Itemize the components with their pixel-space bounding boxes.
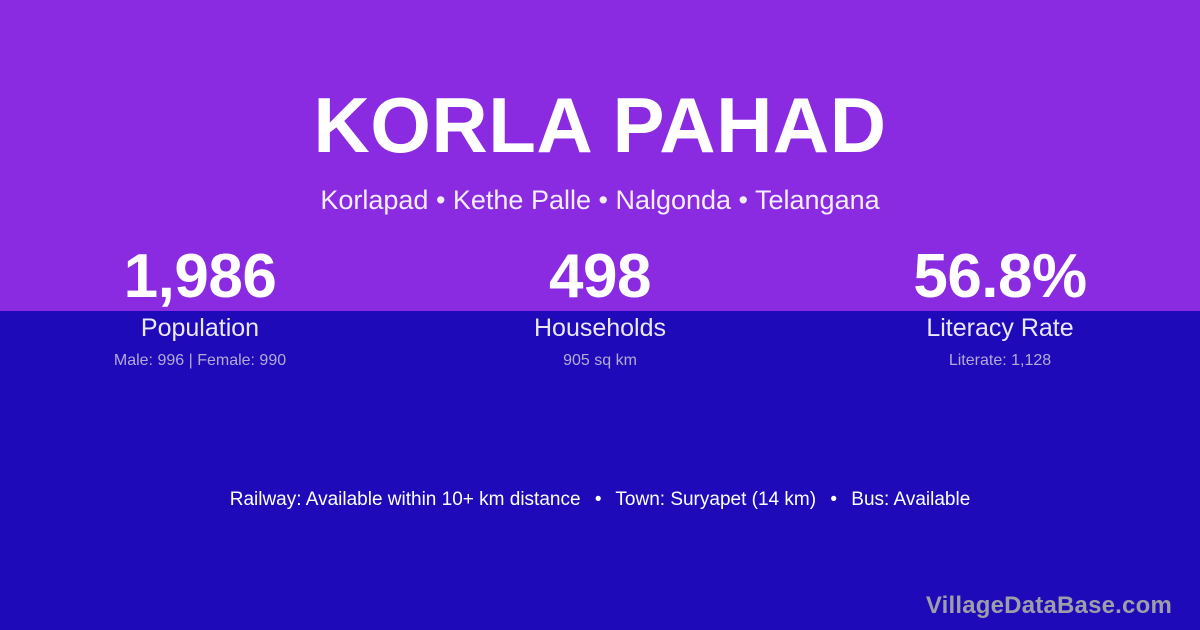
site-watermark: VillageDataBase.com bbox=[926, 591, 1172, 621]
location-breadcrumb: Korlapad • Kethe Palle • Nalgonda • Tela… bbox=[0, 183, 1200, 217]
stat-subtext: Literate: 1,128 bbox=[800, 351, 1200, 371]
stat-label: Households bbox=[400, 313, 800, 343]
stat-value: 1,986 bbox=[0, 243, 400, 311]
info-item-town: Town: Suryapet (14 km) bbox=[615, 489, 816, 510]
page-title: KORLA PAHAD bbox=[0, 82, 1200, 168]
stat-label: Literacy Rate bbox=[800, 313, 1200, 343]
stat-value: 498 bbox=[400, 243, 800, 311]
info-item-railway: Railway: Available within 10+ km distanc… bbox=[230, 489, 581, 510]
bullet-separator-icon: • bbox=[586, 489, 611, 510]
stat-literacy-rate: 56.8% Literacy Rate Literate: 1,128 bbox=[800, 243, 1200, 371]
stat-subtext: Male: 996 | Female: 990 bbox=[0, 351, 400, 371]
amenities-info-bar: Railway: Available within 10+ km distanc… bbox=[0, 487, 1200, 513]
stat-value: 56.8% bbox=[800, 243, 1200, 311]
stat-subtext: 905 sq km bbox=[400, 351, 800, 371]
village-info-card: KORLA PAHAD Korlapad • Kethe Palle • Nal… bbox=[0, 0, 1200, 630]
stat-label: Population bbox=[0, 313, 400, 343]
stat-households: 498 Households 905 sq km bbox=[400, 243, 800, 371]
statistics-row: 1,986 Population Male: 996 | Female: 990… bbox=[0, 243, 1200, 371]
bullet-separator-icon: • bbox=[821, 489, 846, 510]
info-item-bus: Bus: Available bbox=[851, 489, 970, 510]
stat-population: 1,986 Population Male: 996 | Female: 990 bbox=[0, 243, 400, 371]
